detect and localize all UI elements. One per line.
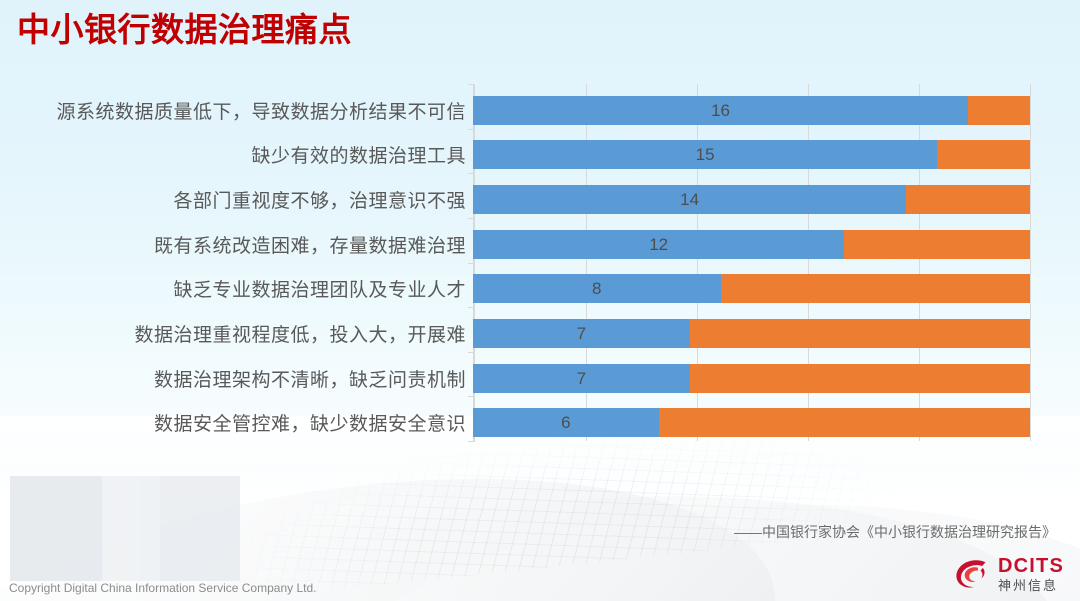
bar-value-label: 16 [711,102,730,119]
bar-segment-primary[interactable]: 7 [473,364,690,393]
bar-chart: 源系统数据质量低下，导致数据分析结果不可信缺少有效的数据治理工具各部门重视度不够… [0,84,1047,459]
bar-segment-primary[interactable]: 16 [473,96,968,125]
gridline [1030,84,1031,441]
bar-row[interactable]: 6 [473,408,1030,437]
dcits-logo: DCITS 神州信息 [955,556,1064,592]
category-label: 既有系统改造困难，存量数据难治理 [154,230,466,259]
bar-segment-secondary[interactable] [690,364,1030,393]
category-label: 数据安全管控难，缺少数据安全意识 [154,408,466,437]
background-blocks [10,476,280,581]
dcits-emblem-icon [955,558,991,590]
bar-row[interactable]: 16 [473,96,1030,125]
bar-segment-secondary[interactable] [906,185,1030,214]
bar-value-label: 12 [649,236,668,253]
bar-row[interactable]: 15 [473,140,1030,169]
bar-segment-secondary[interactable] [659,408,1030,437]
bar-segment-secondary[interactable] [844,230,1030,259]
category-label: 各部门重视度不够，治理意识不强 [173,185,466,214]
bar-row[interactable]: 14 [473,185,1030,214]
bar-row[interactable]: 7 [473,319,1030,348]
bar-value-label: 6 [561,414,570,431]
bar-segment-secondary[interactable] [690,319,1030,348]
bar-segment-primary[interactable]: 15 [473,140,937,169]
bar-segment-secondary[interactable] [721,274,1030,303]
bar-row[interactable]: 12 [473,230,1030,259]
bar-segment-primary[interactable]: 6 [473,408,659,437]
category-label: 缺少有效的数据治理工具 [251,140,466,169]
bar-value-label: 14 [680,191,699,208]
category-label: 数据治理架构不清晰，缺乏问责机制 [154,364,466,393]
category-label: 缺乏专业数据治理团队及专业人才 [173,274,466,303]
axis-tick [468,441,475,442]
bar-value-label: 7 [577,370,586,387]
bar-value-label: 7 [577,325,586,342]
bar-row[interactable]: 8 [473,274,1030,303]
bar-segment-primary[interactable]: 14 [473,185,906,214]
source-attribution: ——中国银行家协会《中小银行数据治理研究报告》 [734,522,1056,542]
bar-segment-primary[interactable]: 8 [473,274,721,303]
category-label: 数据治理重视程度低，投入大，开展难 [134,319,466,348]
bar-row[interactable]: 7 [473,364,1030,393]
bar-segment-primary[interactable]: 7 [473,319,690,348]
dcits-logo-en: DCITS [998,556,1064,576]
chart-bars: 161514128776 [473,84,1030,441]
bar-segment-secondary[interactable] [937,140,1030,169]
category-label: 源系统数据质量低下，导致数据分析结果不可信 [56,96,466,125]
bar-value-label: 15 [696,146,715,163]
page-title: 中小银行数据治理痛点 [17,8,352,52]
dcits-logo-cn: 神州信息 [998,579,1064,592]
copyright-text: Copyright Digital China Information Serv… [9,581,316,595]
bar-segment-secondary[interactable] [968,96,1030,125]
dcits-logo-text: DCITS 神州信息 [998,556,1064,592]
bar-value-label: 8 [592,280,601,297]
bar-segment-primary[interactable]: 12 [473,230,844,259]
